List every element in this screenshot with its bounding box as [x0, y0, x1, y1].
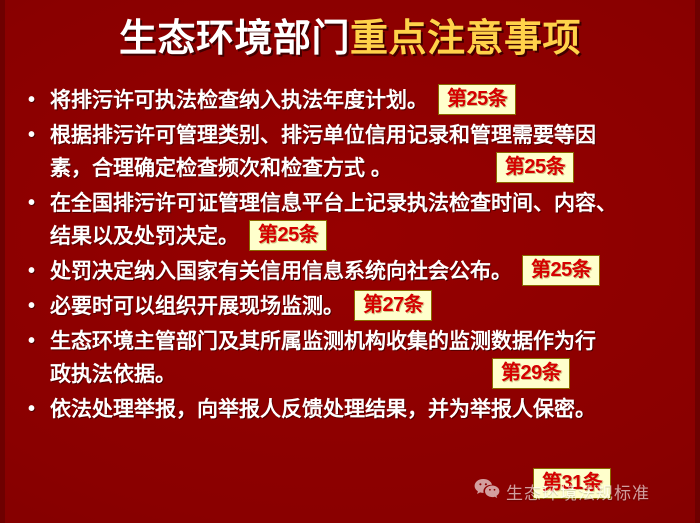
- bullet-marker-icon: •: [28, 84, 42, 117]
- list-item: • 在全国排污许可证管理信息平台上记录执法检查时间、内容、 结果以及处罚决定。第…: [14, 187, 690, 253]
- article-badge: 第25条: [249, 220, 327, 251]
- title-primary-text: 生态环境部门: [119, 18, 350, 60]
- list-item-text: 处罚决定纳入国家有关信用信息系统向社会公布。: [50, 260, 512, 283]
- article-badge: 第31条: [533, 468, 611, 499]
- list-item: • 依法处理举报，向举报人反馈处理结果，并为举报人保密。: [14, 393, 690, 426]
- list-item-text: 素，合理确定检查频次和检查方式 。: [50, 157, 392, 180]
- article-badge: 第25条: [496, 152, 574, 183]
- list-item-text: 结果以及处罚决定。: [50, 225, 239, 248]
- list-item-line: 必要时可以组织开展现场监测。第27条: [50, 290, 690, 323]
- bullet-marker-icon: •: [28, 290, 42, 323]
- bullet-marker-icon: •: [28, 393, 42, 426]
- title-highlight-text: 重点注意事项: [350, 18, 581, 60]
- left-edge-stripe: [0, 0, 5, 523]
- article-badge: 第29条: [492, 358, 570, 389]
- list-item-line: 在全国排污许可证管理信息平台上记录执法检查时间、内容、: [50, 187, 690, 220]
- bullet-marker-icon: •: [28, 325, 42, 358]
- bullet-marker-icon: •: [28, 119, 42, 152]
- list-item: • 生态环境主管部门及其所属监测机构收集的监测数据作为行 政执法依据。第29条: [14, 325, 690, 391]
- bullet-list: • 将排污许可执法检查纳入执法年度计划。第25条 • 根据排污许可管理类别、排污…: [14, 84, 690, 428]
- list-item-line: 素，合理确定检查频次和检查方式 。第25条: [50, 152, 690, 185]
- article-badge: 第25条: [438, 84, 516, 115]
- list-item-line: 根据排污许可管理类别、排污单位信用记录和管理需要等因: [50, 119, 690, 152]
- list-item-line: 生态环境主管部门及其所属监测机构收集的监测数据作为行: [50, 325, 690, 358]
- list-item-line: 依法处理举报，向举报人反馈处理结果，并为举报人保密。: [50, 393, 690, 426]
- list-item-line: 政执法依据。第29条: [50, 358, 690, 391]
- bullet-marker-icon: •: [28, 187, 42, 220]
- list-item-line: 将排污许可执法检查纳入执法年度计划。第25条: [50, 84, 690, 117]
- list-item-text: 必要时可以组织开展现场监测。: [50, 295, 344, 318]
- article-badge: 第27条: [354, 290, 432, 321]
- list-item: • 将排污许可执法检查纳入执法年度计划。第25条: [14, 84, 690, 117]
- list-item-text: 政执法依据。: [50, 363, 176, 386]
- slide-title: 生态环境部门重点注意事项: [0, 18, 700, 62]
- list-item-line: 结果以及处罚决定。第25条: [50, 220, 690, 253]
- article-badge: 第25条: [522, 255, 600, 286]
- list-item: • 处罚决定纳入国家有关信用信息系统向社会公布。第25条: [14, 255, 690, 288]
- bullet-marker-icon: •: [28, 255, 42, 288]
- list-item-line: 处罚决定纳入国家有关信用信息系统向社会公布。第25条: [50, 255, 690, 288]
- slide-root: 生态环境部门重点注意事项 • 将排污许可执法检查纳入执法年度计划。第25条 • …: [0, 0, 700, 523]
- list-item-text: 将排污许可执法检查纳入执法年度计划。: [50, 89, 428, 112]
- right-edge-stripe: [695, 0, 700, 523]
- list-item: • 根据排污许可管理类别、排污单位信用记录和管理需要等因 素，合理确定检查频次和…: [14, 119, 690, 185]
- list-item: • 必要时可以组织开展现场监测。第27条: [14, 290, 690, 323]
